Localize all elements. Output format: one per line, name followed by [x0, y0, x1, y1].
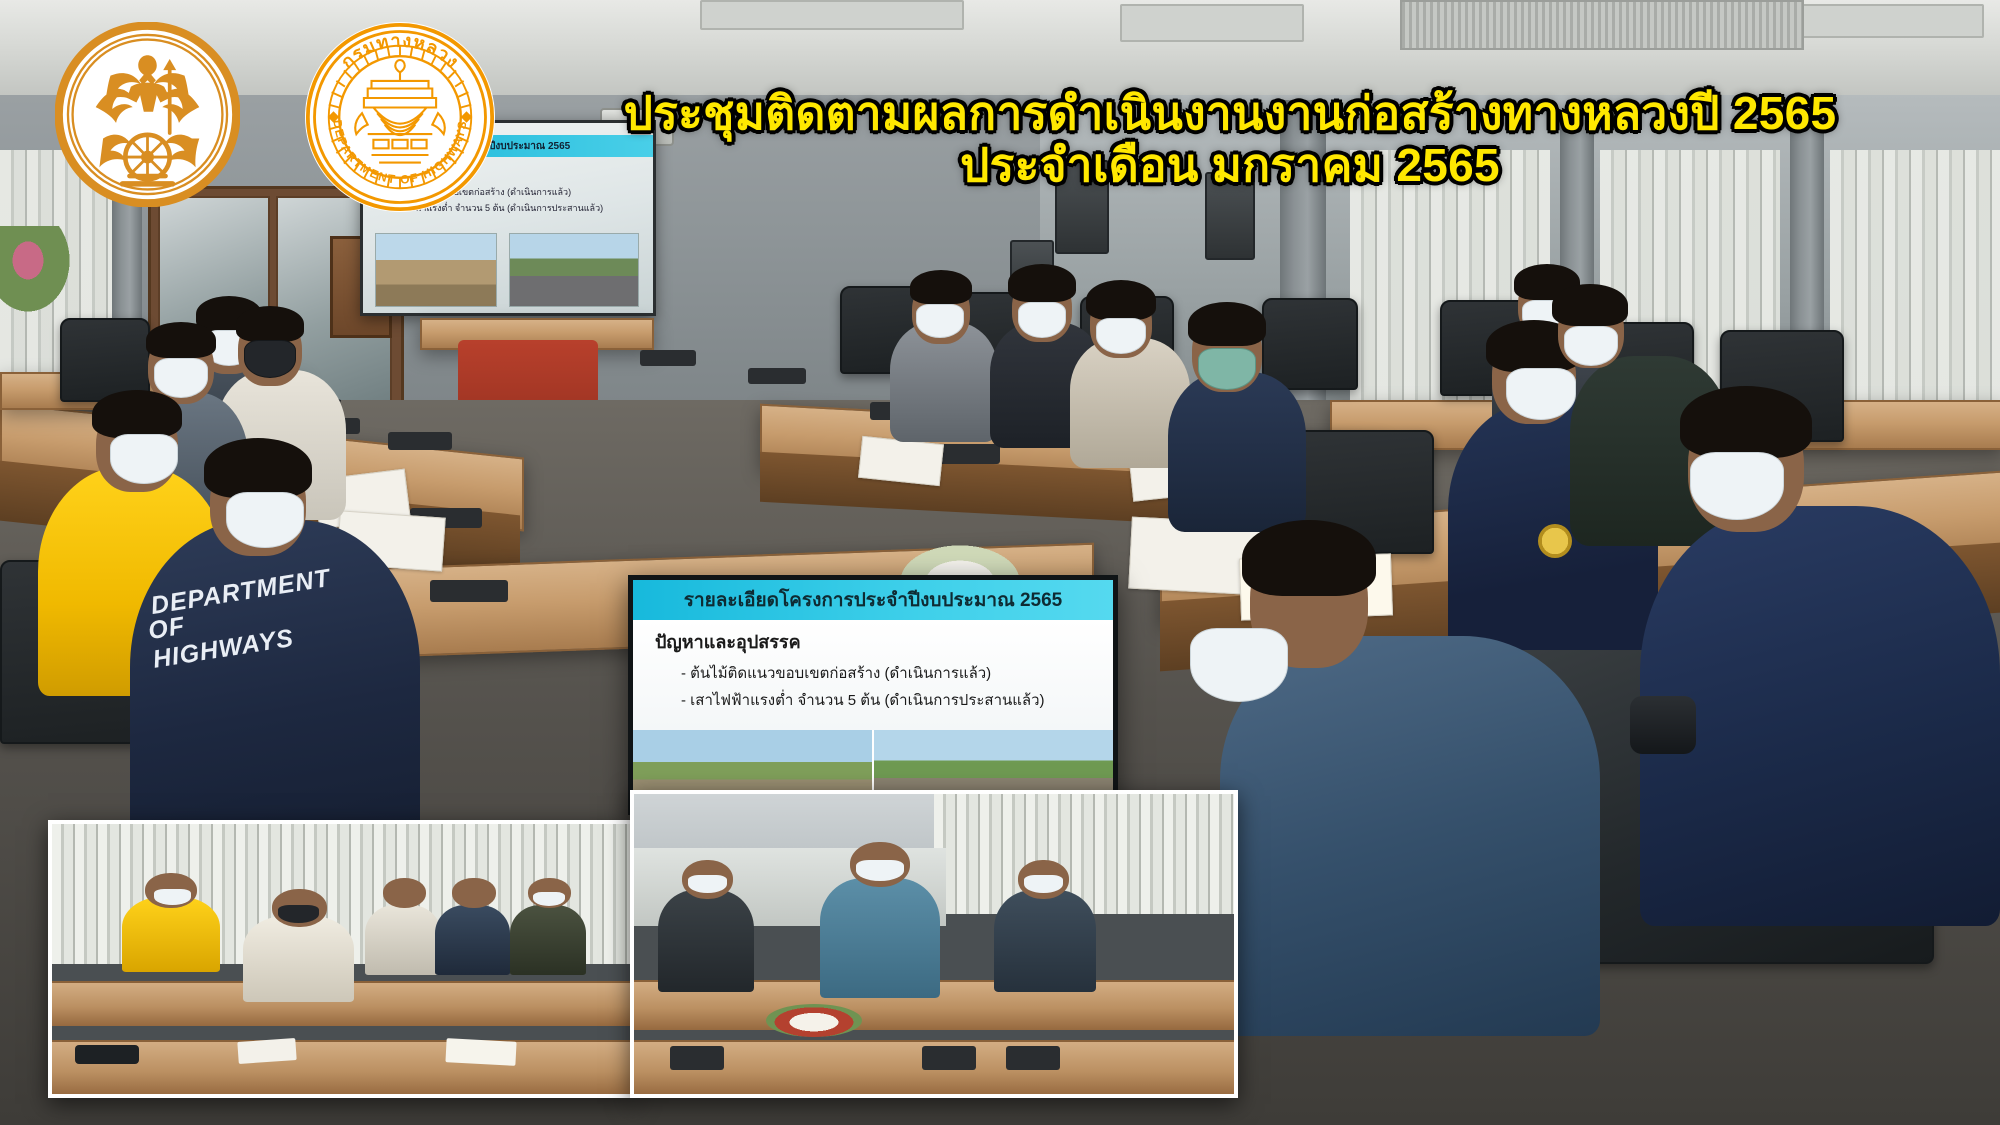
inset-document: [446, 1038, 517, 1066]
slide-photo: [509, 233, 639, 307]
attendee-hair: [146, 322, 216, 358]
microphone-base: [388, 432, 452, 450]
face-mask: [154, 358, 208, 398]
inset-photo-chairman: [630, 790, 1238, 1098]
window-blinds: [1830, 150, 2000, 405]
face-mask: [1564, 326, 1618, 366]
inset-person-head: [452, 878, 496, 908]
slide-bullet: - ต้นไม้ติดแนวขอบเขตก่อสร้าง (ดำเนินการแ…: [385, 185, 571, 199]
ceiling-panel: [1120, 4, 1304, 42]
inset-slide-body: ปัญหาและอุปสรรค - ต้นไม้ติดแนวขอบเขตก่อส…: [633, 620, 1113, 730]
inset-slide-bullet: - ต้นไม้ติดแนวขอบเขตก่อสร้าง (ดำเนินการแ…: [681, 661, 1113, 685]
microphone-base: [640, 350, 696, 366]
inset-slide-photo: รายละเอียดโครงการประจำปีงบประมาณ 2565 ปั…: [628, 575, 1118, 815]
inset-face-mask: [154, 889, 192, 905]
attendee-hair: [1086, 280, 1156, 320]
flower-arrangement: [0, 226, 70, 312]
inset-person: [510, 905, 585, 975]
inset-face-mask: [688, 875, 727, 893]
wristwatch: [1630, 696, 1696, 754]
inset-microphone: [1006, 1046, 1060, 1070]
inset-face-mask: [1024, 875, 1063, 893]
inset-slide-heading: ปัญหาและอุปสรรค: [655, 627, 1113, 656]
microphone-base: [748, 368, 806, 384]
inset-microphone: [922, 1046, 976, 1070]
attendee-hair: [236, 306, 304, 342]
screenshot-canvas: รายละเอียดโครงการประจำปีงบประมาณ 2565 ปั…: [0, 0, 2000, 1125]
ceiling-panel: [700, 0, 964, 30]
slide-photo: [375, 233, 497, 307]
inset-flower-arrangement: [766, 1004, 862, 1037]
document: [858, 436, 944, 486]
inset-document: [237, 1038, 296, 1064]
face-mask: [226, 492, 304, 548]
face-mask: [1018, 302, 1066, 338]
attendee-hair: [910, 270, 972, 304]
face-mask: [1096, 318, 1146, 354]
slide-heading: ปัญหาและอุปสรรค: [373, 169, 446, 183]
inset-face-mask: [278, 905, 319, 923]
inset-slide-banner-text: รายละเอียดโครงการประจำปีงบประมาณ 2565: [684, 585, 1063, 615]
slide-banner: รายละเอียดโครงการประจำปีงบประมาณ 2565: [363, 135, 653, 157]
inset-slide-banner: รายละเอียดโครงการประจำปีงบประมาณ 2565: [633, 580, 1113, 620]
face-mask: [1506, 368, 1576, 420]
face-mask: [1690, 452, 1784, 520]
inset-face-mask: [856, 860, 904, 881]
inset-tablet: [75, 1045, 139, 1064]
inset-person-yellow: [122, 897, 221, 973]
inset-blinds: [934, 794, 1234, 914]
inset-photo-meeting-wide: [48, 820, 636, 1098]
attendee-hair: [1008, 264, 1076, 302]
attendee-body: [1220, 636, 1600, 1036]
attendee-body: [1168, 372, 1306, 532]
projection-screen: รายละเอียดโครงการประจำปีงบประมาณ 2565 ปั…: [360, 120, 656, 316]
inset-person: [365, 905, 440, 975]
attendee-hair: [1188, 302, 1266, 346]
attendee-hair: [1242, 520, 1376, 596]
inset-person: [435, 905, 510, 975]
inset-microphone: [670, 1046, 724, 1070]
slide-banner-text: รายละเอียดโครงการประจำปีงบประมาณ 2565: [371, 139, 570, 154]
attendee-hair: [92, 390, 182, 438]
attendee-hair: [1680, 386, 1812, 458]
inset-person-head: [383, 878, 427, 908]
wall-speaker: [1205, 172, 1255, 260]
inset-person-white: [243, 916, 353, 1002]
inset-person: [658, 890, 754, 992]
face-mask: [110, 434, 178, 484]
face-mask: [244, 340, 296, 378]
ceiling-panel: [1800, 4, 1984, 38]
inset-person: [994, 890, 1096, 992]
face-mask: [916, 304, 964, 338]
microphone-base: [430, 580, 508, 602]
wall-speaker: [1055, 160, 1109, 254]
inset-slide-bullet: - เสาไฟฟ้าแรงต่ำ จำนวน 5 ต้น (ดำเนินการป…: [681, 688, 1113, 712]
attendee-hair: [1552, 284, 1628, 326]
slide-bullet: - เสาไฟฟ้าแรงต่ำ จำนวน 5 ต้น (ดำเนินการป…: [385, 201, 603, 215]
chair: [1262, 298, 1358, 390]
uniform-badge: [1538, 524, 1572, 558]
air-conditioner-vent: [1400, 0, 1804, 50]
face-mask: [1190, 628, 1288, 702]
face-mask: [1198, 348, 1256, 390]
attendee-hair: [204, 438, 312, 498]
inset-person-chairman: [820, 878, 940, 998]
